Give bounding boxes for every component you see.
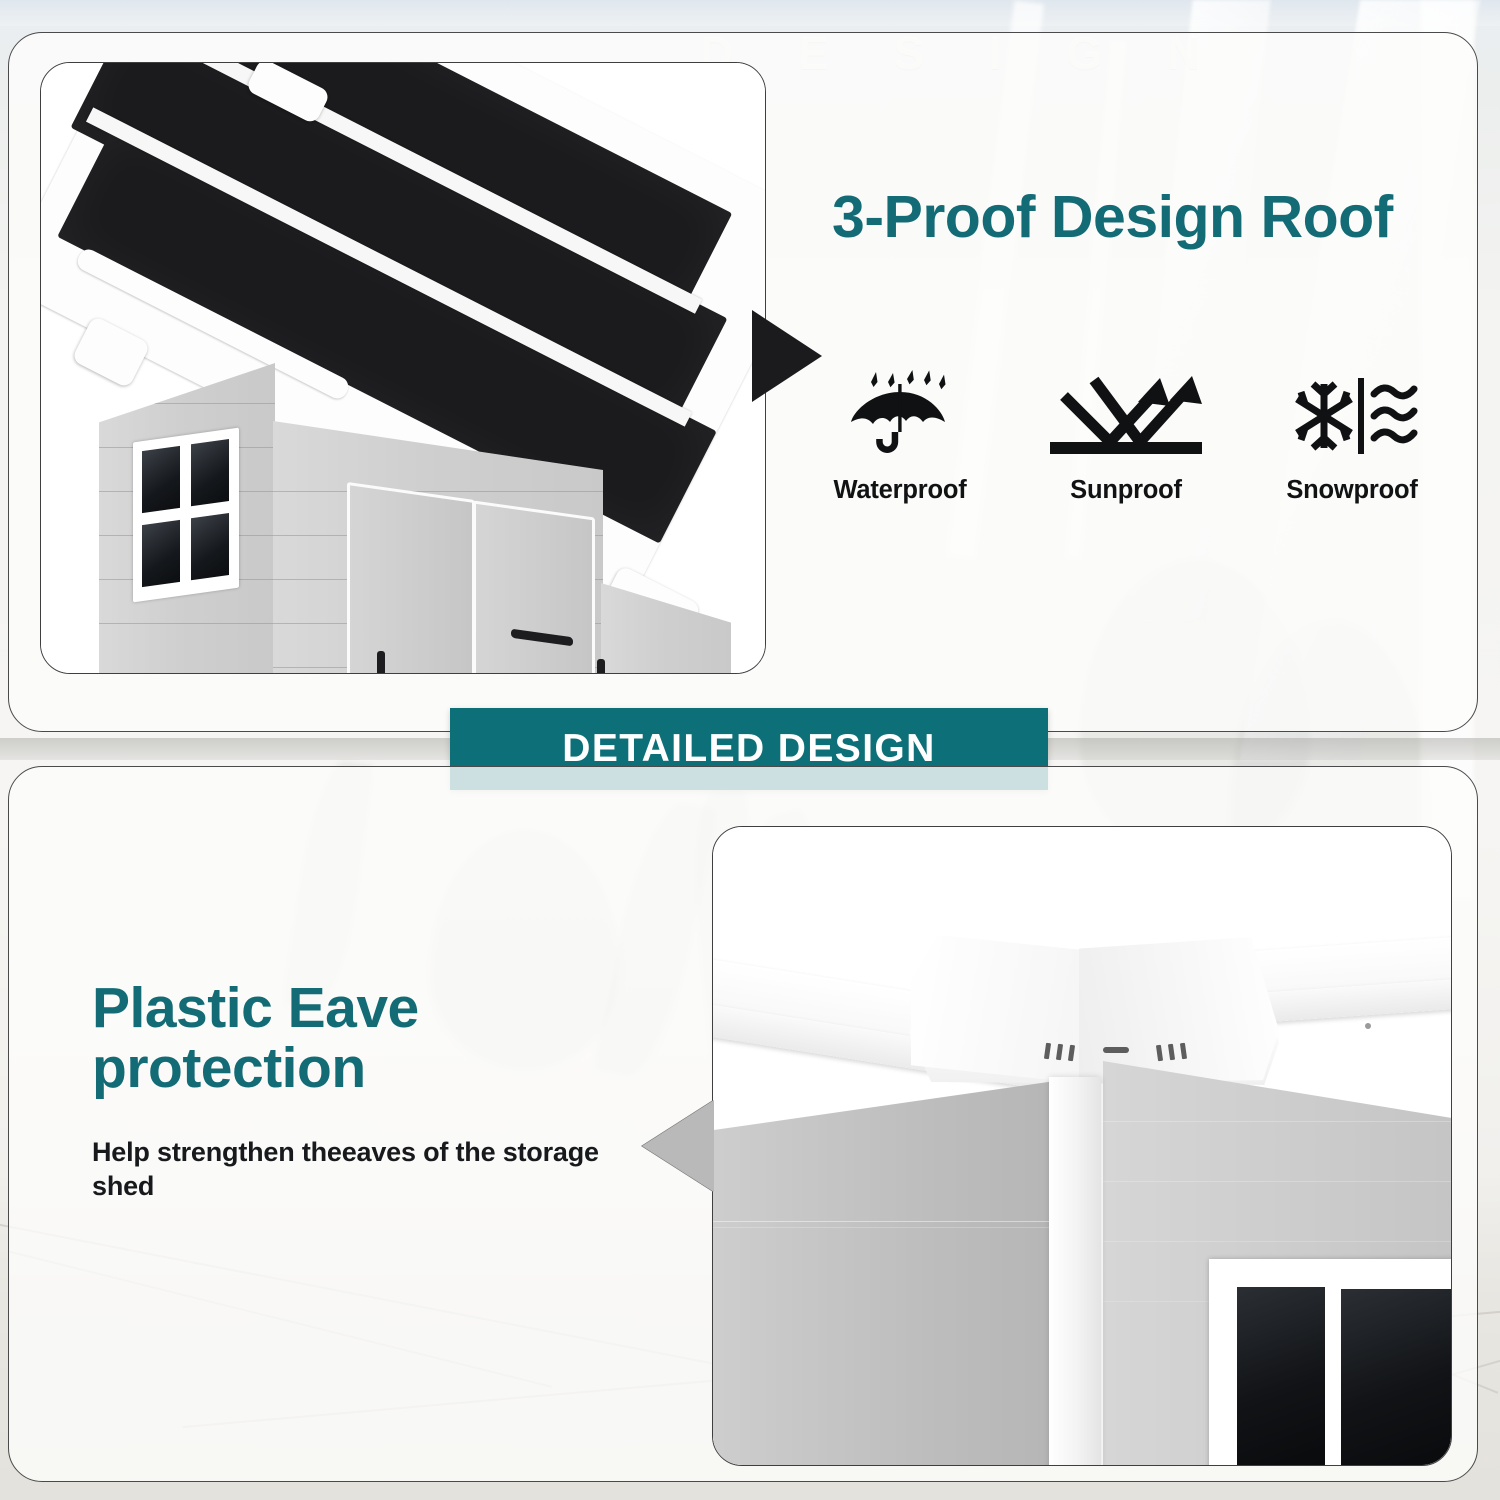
eave-screw <box>1365 1023 1371 1029</box>
product-infographic: D E S I G N <box>0 0 1500 1500</box>
eave-illustration <box>713 827 1451 1465</box>
shed-window <box>133 428 239 603</box>
proof-item-sunproof: Sunproof <box>1026 370 1226 505</box>
sun-reflection-icon <box>1042 370 1210 462</box>
shed-door-left <box>347 482 475 674</box>
proof-item-snowproof: Snowproof <box>1252 370 1452 505</box>
proof-label-snowproof: Snowproof <box>1286 476 1417 505</box>
window-pane <box>191 439 229 506</box>
eave-image-card <box>712 826 1452 1466</box>
proof-feature-row: Waterproof Sunpro <box>800 370 1452 505</box>
shed-illustration <box>41 63 765 673</box>
shed-door-right <box>473 500 595 674</box>
roof-heading: 3-Proof Design Roof <box>832 186 1432 249</box>
eave-callout-pointer <box>642 1100 714 1192</box>
shed-door-latch <box>597 659 605 674</box>
eave-cap-right-face <box>1079 937 1279 1083</box>
roof-image-card <box>40 62 766 674</box>
window-pane <box>142 446 180 513</box>
eave-cap-left-face <box>911 935 1081 1083</box>
window-pane <box>191 513 229 580</box>
eave-window-pane <box>1341 1289 1451 1466</box>
background-sky-band <box>0 0 1500 26</box>
eave-heading: Plastic Eave protection <box>92 978 652 1099</box>
eave-corner-post <box>1049 1077 1101 1466</box>
window-pane <box>142 520 180 587</box>
eave-window-pane <box>1237 1287 1325 1466</box>
banner-label: DETAILED DESIGN <box>562 727 935 771</box>
snowflake-wind-icon <box>1286 370 1418 462</box>
umbrella-rain-icon <box>844 370 956 462</box>
shed-door-latch <box>377 651 385 674</box>
eave-subtext: Help strengthen theeaves of the storage … <box>92 1135 652 1204</box>
proof-item-waterproof: Waterproof <box>800 370 1000 505</box>
proof-label-sunproof: Sunproof <box>1070 476 1182 505</box>
roof-text-block: 3-Proof Design Roof <box>832 186 1432 249</box>
proof-label-waterproof: Waterproof <box>833 476 966 505</box>
eave-text-block: Plastic Eave protection Help strengthen … <box>92 978 652 1204</box>
eave-wall-left <box>712 1077 1083 1466</box>
eave-vent-slit <box>1103 1047 1129 1053</box>
